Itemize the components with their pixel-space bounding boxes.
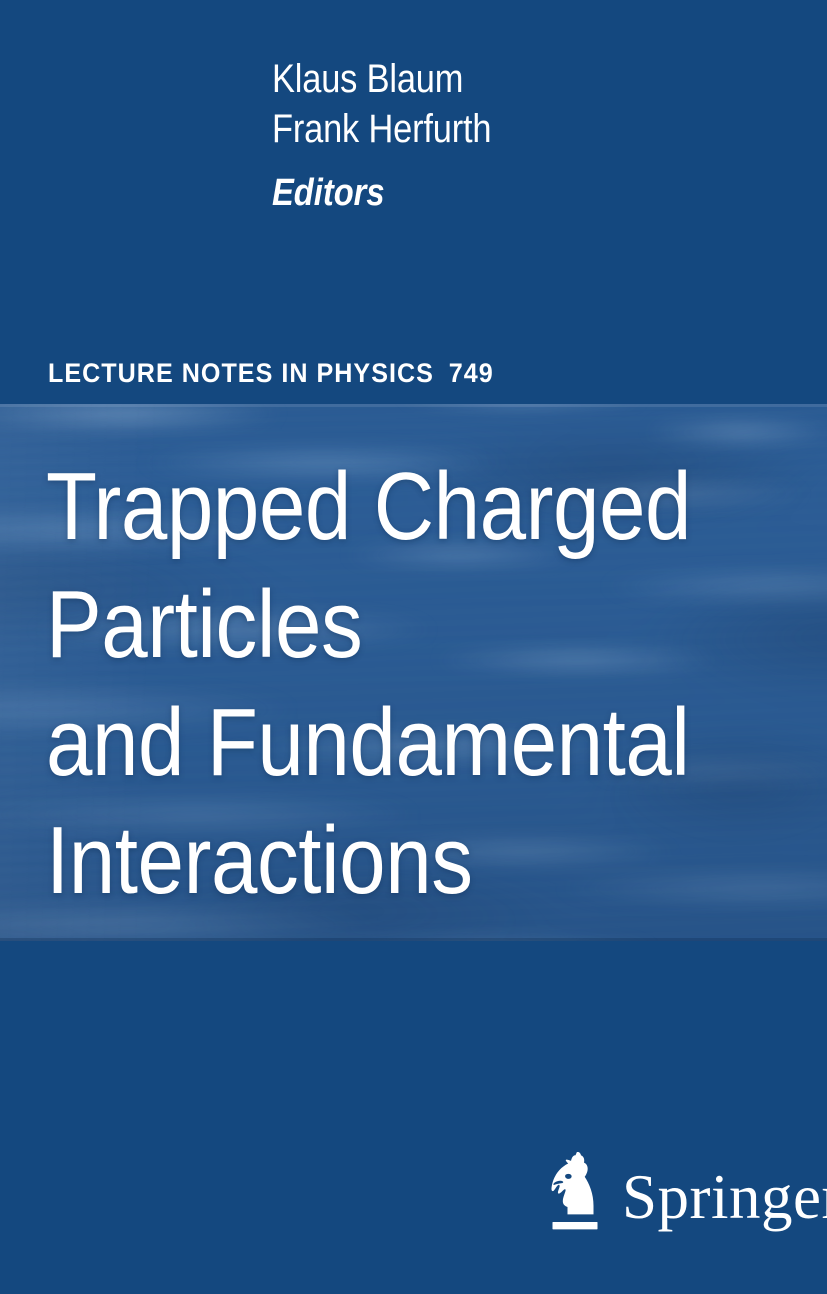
publisher-name: Springer bbox=[622, 1166, 827, 1228]
band-bottom-edge bbox=[0, 938, 827, 941]
publisher-logo: Springer bbox=[544, 1152, 827, 1234]
title-line-4: Interactions bbox=[46, 802, 690, 920]
band-top-edge bbox=[0, 404, 827, 407]
series-name: LECTURE NOTES IN PHYSICS bbox=[48, 358, 434, 388]
series-line: LECTURE NOTES IN PHYSICS749 bbox=[48, 358, 494, 389]
author-name-1: Klaus Blaum bbox=[272, 54, 685, 104]
author-name-2: Frank Herfurth bbox=[272, 104, 685, 154]
title-line-3: and Fundamental bbox=[46, 684, 690, 802]
title-line-1: Trapped Charged bbox=[46, 448, 690, 566]
springer-knight-icon bbox=[544, 1152, 606, 1234]
title-line-2: Particles bbox=[46, 566, 690, 684]
series-volume-number: 749 bbox=[449, 358, 494, 388]
page-title: Trapped Charged Particles and Fundamenta… bbox=[46, 448, 786, 920]
author-block: Klaus Blaum Frank Herfurth Editors bbox=[272, 54, 752, 218]
editors-label: Editors bbox=[272, 168, 685, 218]
book-cover: Klaus Blaum Frank Herfurth Editors LECTU… bbox=[0, 0, 827, 1294]
